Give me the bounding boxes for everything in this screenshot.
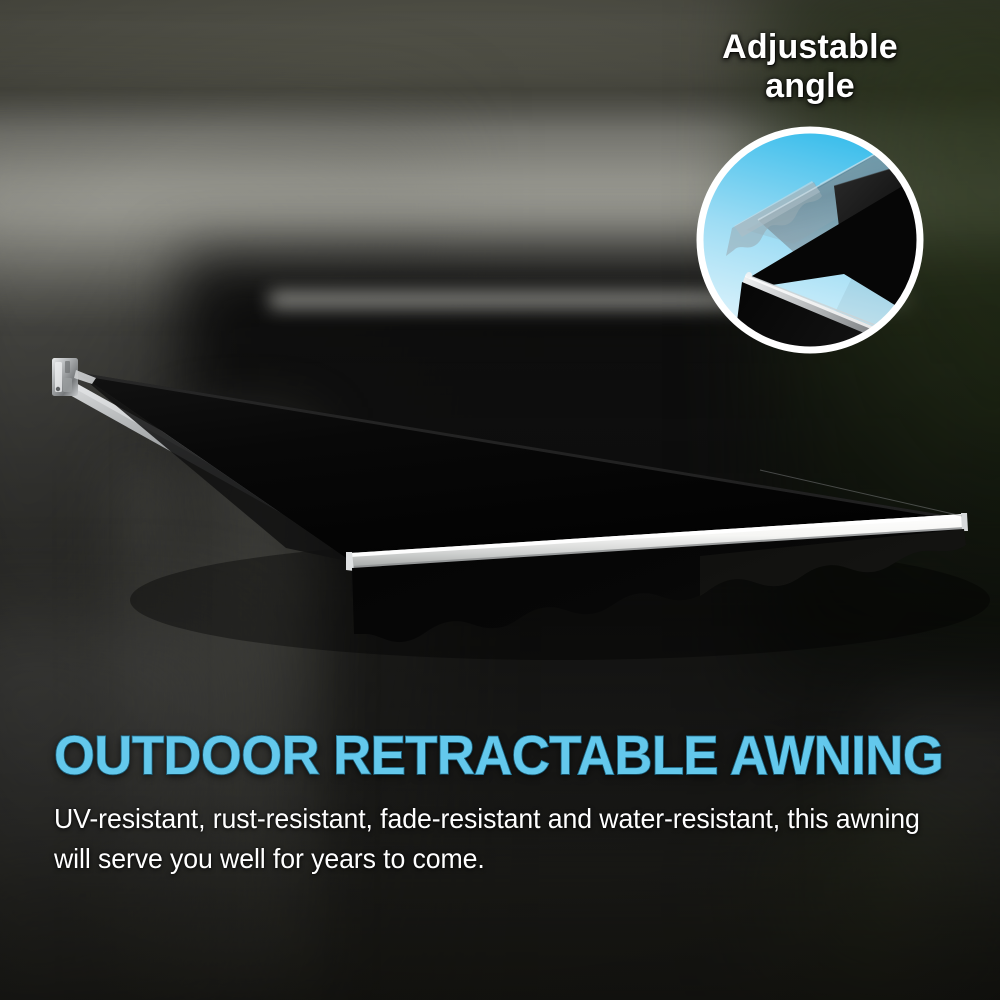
product-description: UV-resistant, rust-resistant, fade-resis… [54, 799, 927, 878]
awning-wall-bracket [52, 358, 96, 396]
copy-block: OUTDOOR RETRACTABLE AWNING UV-resistant,… [54, 728, 954, 878]
product-marketing-image: Adjustable angle OUTDOOR RETRACTABLE AWN… [0, 0, 1000, 1000]
inset-content [694, 124, 926, 356]
adjustable-angle-label: Adjustable angle [660, 28, 960, 107]
product-headline: OUTDOOR RETRACTABLE AWNING [54, 728, 914, 783]
adjustable-angle-inset [694, 124, 926, 356]
